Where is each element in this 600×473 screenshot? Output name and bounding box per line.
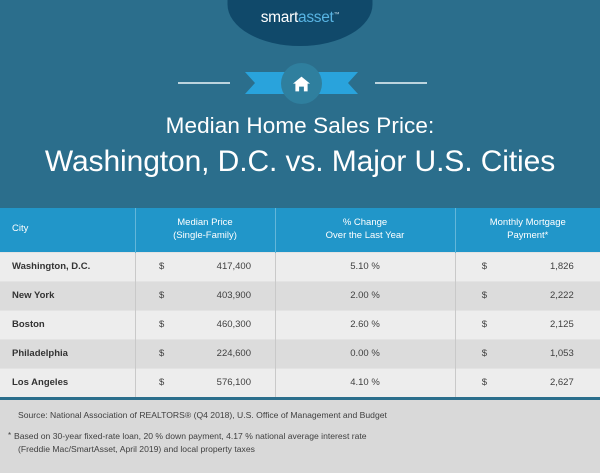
- cell-city: Washington, D.C.: [0, 252, 135, 281]
- table-row: New York $ 403,900 2.00 % $ 2,222: [0, 281, 600, 310]
- cell-median-price: $ 460,300: [135, 310, 275, 339]
- cell-monthly-payment: $ 2,222: [455, 281, 600, 310]
- column-header-percent-change-line2: Over the Last Year: [286, 230, 445, 243]
- table-row: Los Angeles $ 576,100 4.10 % $ 2,627: [0, 368, 600, 397]
- cell-median-price: $ 417,400: [135, 252, 275, 281]
- cell-city: Los Angeles: [0, 368, 135, 397]
- median-price-value: 403,900: [199, 290, 251, 301]
- monthly-payment-value: 2,222: [522, 290, 574, 301]
- currency-symbol: $: [159, 290, 199, 301]
- footnote-asterisk-note: * Based on 30-year fixed-rate loan, 20 %…: [14, 430, 586, 455]
- cell-city: Philadelphia: [0, 339, 135, 368]
- column-header-city: City: [0, 208, 135, 252]
- brand-logo: smartasset™: [261, 9, 340, 27]
- source-note: Source: National Association of REALTORS…: [18, 409, 586, 421]
- brand-logo-smart: smart: [261, 9, 298, 26]
- column-header-median-price-line1: Median Price: [146, 217, 265, 230]
- cell-median-price: $ 224,600: [135, 339, 275, 368]
- asterisk-marker: *: [8, 430, 11, 442]
- cell-percent-change: 5.10 %: [275, 252, 455, 281]
- data-table-wrapper: City Median Price (Single-Family) % Chan…: [0, 208, 600, 397]
- page-title: Median Home Sales Price: Washington, D.C…: [0, 112, 600, 181]
- ribbon-divider: [0, 63, 600, 103]
- cell-monthly-payment: $ 2,125: [455, 310, 600, 339]
- cell-percent-change: 2.00 %: [275, 281, 455, 310]
- cell-percent-change: 2.60 %: [275, 310, 455, 339]
- column-header-percent-change: % Change Over the Last Year: [275, 208, 455, 252]
- monthly-payment-value: 1,053: [522, 348, 574, 359]
- footnote-line-1: Based on 30-year fixed-rate loan, 20 % d…: [14, 430, 586, 442]
- cell-city: New York: [0, 281, 135, 310]
- column-header-median-price: Median Price (Single-Family): [135, 208, 275, 252]
- monthly-payment-value: 2,125: [522, 319, 574, 330]
- currency-symbol: $: [482, 348, 522, 359]
- home-price-table: City Median Price (Single-Family) % Chan…: [0, 208, 600, 397]
- footnotes: Source: National Association of REALTORS…: [0, 400, 600, 473]
- currency-symbol: $: [482, 290, 522, 301]
- badge-circle: [281, 63, 322, 104]
- infographic-root: smartasset™ Median Home Sales Price: Was…: [0, 0, 600, 473]
- cell-median-price: $ 403,900: [135, 281, 275, 310]
- median-price-value: 576,100: [199, 377, 251, 388]
- currency-symbol: $: [159, 377, 199, 388]
- currency-symbol: $: [159, 261, 199, 272]
- column-header-percent-change-line1: % Change: [286, 217, 445, 230]
- column-header-monthly-payment: Monthly Mortgage Payment*: [455, 208, 600, 252]
- table-row: Philadelphia $ 224,600 0.00 % $ 1,053: [0, 339, 600, 368]
- brand-banner: smartasset™: [228, 0, 373, 46]
- footnote-line-2: (Freddie Mac/SmartAsset, April 2019) and…: [18, 443, 586, 455]
- cell-percent-change: 0.00 %: [275, 339, 455, 368]
- cell-monthly-payment: $ 1,053: [455, 339, 600, 368]
- column-header-monthly-payment-line2: Payment*: [466, 230, 591, 243]
- table-header-row: City Median Price (Single-Family) % Chan…: [0, 208, 600, 252]
- cell-monthly-payment: $ 2,627: [455, 368, 600, 397]
- table-row: Boston $ 460,300 2.60 % $ 2,125: [0, 310, 600, 339]
- currency-symbol: $: [482, 261, 522, 272]
- median-price-value: 460,300: [199, 319, 251, 330]
- divider-rule-left: [178, 82, 230, 84]
- cell-percent-change: 4.10 %: [275, 368, 455, 397]
- house-icon: [292, 75, 311, 93]
- cell-median-price: $ 576,100: [135, 368, 275, 397]
- title-line-2: Washington, D.C. vs. Major U.S. Cities: [0, 142, 600, 181]
- column-header-median-price-line2: (Single-Family): [146, 230, 265, 243]
- currency-symbol: $: [159, 319, 199, 330]
- table-body: Washington, D.C. $ 417,400 5.10 % $ 1,82…: [0, 252, 600, 397]
- currency-symbol: $: [482, 377, 522, 388]
- column-header-monthly-payment-line1: Monthly Mortgage: [466, 217, 591, 230]
- monthly-payment-value: 1,826: [522, 261, 574, 272]
- title-line-1: Median Home Sales Price:: [0, 112, 600, 140]
- table-row: Washington, D.C. $ 417,400 5.10 % $ 1,82…: [0, 252, 600, 281]
- median-price-value: 417,400: [199, 261, 251, 272]
- currency-symbol: $: [482, 319, 522, 330]
- divider-rule-right: [375, 82, 427, 84]
- cell-monthly-payment: $ 1,826: [455, 252, 600, 281]
- brand-logo-asset: asset: [298, 9, 334, 26]
- table-header: City Median Price (Single-Family) % Chan…: [0, 208, 600, 252]
- trademark-symbol: ™: [334, 12, 340, 18]
- currency-symbol: $: [159, 348, 199, 359]
- monthly-payment-value: 2,627: [522, 377, 574, 388]
- median-price-value: 224,600: [199, 348, 251, 359]
- cell-city: Boston: [0, 310, 135, 339]
